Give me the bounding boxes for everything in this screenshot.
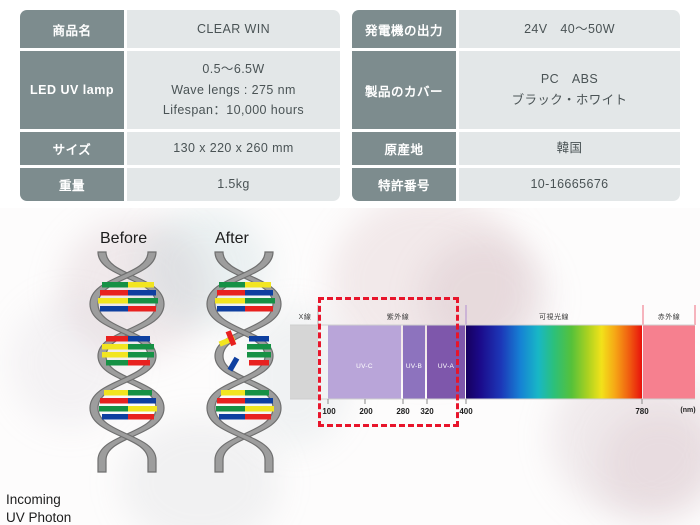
spec-label: 原産地 — [352, 132, 456, 165]
spec-value: 0.5〜6.5W Wave lengs : 275 nm Lifespan：10… — [127, 51, 340, 129]
spec-value: 韓国 — [459, 132, 680, 165]
spec-value-line: 10-16665676 — [530, 174, 608, 195]
spec-value-line: PC ABS — [541, 69, 598, 90]
table-row: 重量 1.5kg — [20, 168, 340, 201]
axis-unit-label: (nm) — [676, 407, 700, 414]
spec-label: 特許番号 — [352, 168, 456, 201]
spec-value: 10-16665676 — [459, 168, 680, 201]
spec-value: 24V 40〜50W — [459, 10, 680, 48]
spec-label: 製品のカバー — [352, 51, 456, 129]
spec-label: サイズ — [20, 132, 124, 165]
spec-label: 発電機の出力 — [352, 10, 456, 48]
table-row: LED UV lamp 0.5〜6.5W Wave lengs : 275 nm… — [20, 51, 340, 129]
band-label-xray: X線 — [292, 312, 318, 322]
uv-photon-label: Incoming UV Photon — [6, 491, 106, 525]
uv-photon-line2: UV Photon — [6, 509, 106, 525]
uv-photon-line1: Incoming — [6, 491, 106, 509]
spec-value-line: 1.5kg — [217, 174, 250, 195]
dna-helix-before — [88, 246, 166, 478]
band-label-visible: 可視光線 — [466, 312, 642, 322]
spec-value-line: CLEAR WIN — [197, 19, 270, 40]
table-row: 商品名 CLEAR WIN — [20, 10, 340, 48]
table-row: 原産地 韓国 — [352, 132, 680, 165]
spec-value: CLEAR WIN — [127, 10, 340, 48]
spec-value-line: 0.5〜6.5W — [202, 59, 264, 80]
band-label-infrared: 赤外線 — [643, 312, 695, 322]
spec-value-line: Lifespan：10,000 hours — [163, 100, 304, 121]
dna-helix-after — [205, 246, 283, 478]
table-row: 製品のカバー PC ABS ブラック・ホワイト — [352, 51, 680, 129]
spec-label: LED UV lamp — [20, 51, 124, 129]
spec-value-line: 韓国 — [557, 138, 583, 159]
spec-value-line: 130 x 220 x 260 mm — [173, 138, 293, 159]
spec-value-line: Wave lengs : 275 nm — [171, 80, 296, 101]
table-row: 発電機の出力 24V 40〜50W — [352, 10, 680, 48]
spec-value: 1.5kg — [127, 168, 340, 201]
spec-label: 商品名 — [20, 10, 124, 48]
tick-label-780: 780 — [631, 407, 653, 416]
spec-value: PC ABS ブラック・ホワイト — [459, 51, 680, 129]
table-row: 特許番号 10-16665676 — [352, 168, 680, 201]
spec-value-line: ブラック・ホワイト — [512, 90, 628, 111]
spec-value: 130 x 220 x 260 mm — [127, 132, 340, 165]
spec-label: 重量 — [20, 168, 124, 201]
spec-table-right: 発電機の出力 24V 40〜50W 製品のカバー PC ABS ブラック・ホワイ… — [352, 10, 680, 201]
band-visible-bar — [466, 325, 642, 399]
spec-value-line: 24V 40〜50W — [524, 19, 615, 40]
poster-root: 商品名 CLEAR WIN LED UV lamp 0.5〜6.5W Wave … — [0, 0, 700, 525]
band-infrared-bar — [643, 325, 695, 399]
spec-table-left: 商品名 CLEAR WIN LED UV lamp 0.5〜6.5W Wave … — [20, 10, 340, 201]
band-xray-bar — [290, 325, 318, 399]
illustration-panel: Before After Incoming UV Photon — [0, 208, 700, 525]
uv-highlight-box — [318, 297, 459, 427]
table-row: サイズ 130 x 220 x 260 mm — [20, 132, 340, 165]
